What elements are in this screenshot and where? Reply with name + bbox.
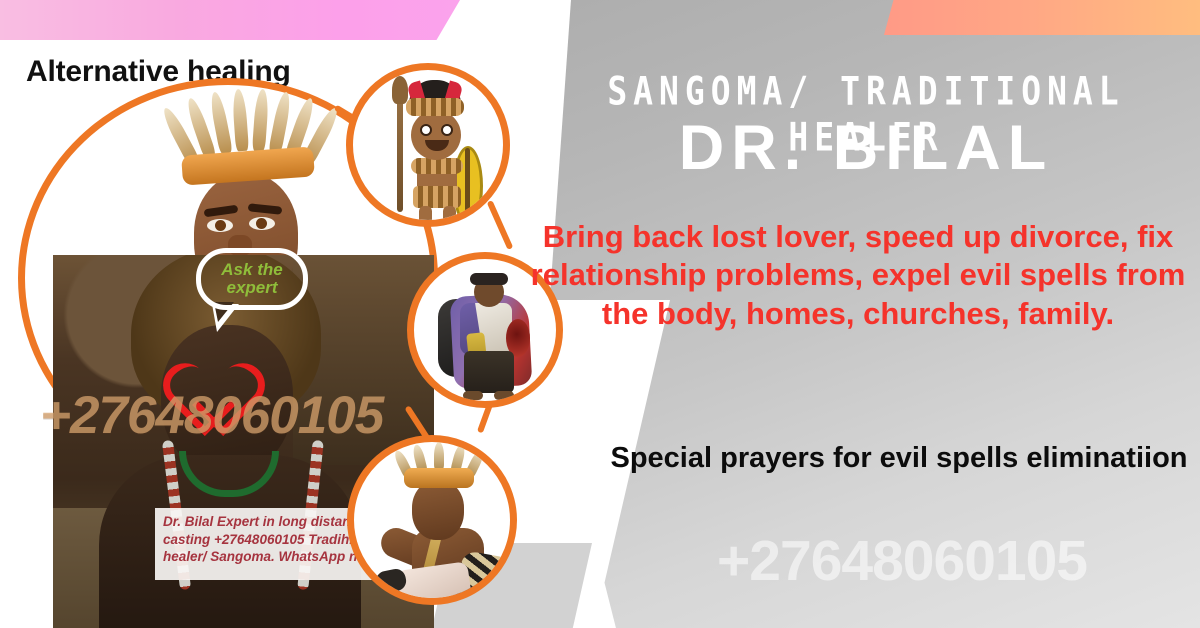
salmon-top-banner	[884, 0, 1200, 35]
brand-name: DR. BILAL	[556, 112, 1176, 184]
connector-line-2	[487, 200, 514, 250]
badge-zulu-warrior-cartoon	[346, 63, 510, 227]
poster-canvas: Alternative healing	[0, 0, 1200, 628]
right-phone-watermark: +27648060105	[604, 528, 1200, 594]
prayers-text: Special prayers for evil spells eliminat…	[604, 440, 1194, 477]
ask-the-expert-bubble: Ask the expert	[196, 248, 308, 310]
bubble-label: Ask the expert	[201, 261, 303, 297]
photo-phone-watermark: +27648060105	[40, 385, 383, 446]
services-text: Bring back lost lover, speed up divorce,…	[528, 218, 1188, 333]
badge-crouching-warrior	[347, 435, 517, 605]
pink-top-banner	[0, 0, 460, 40]
